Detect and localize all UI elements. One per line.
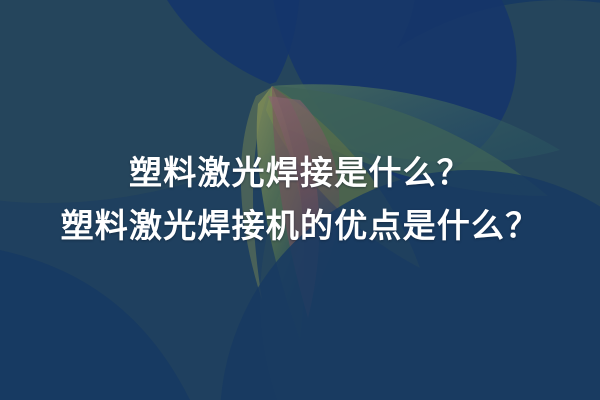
background-artwork bbox=[0, 0, 600, 400]
poster-canvas: 塑料激光焊接是什么？ 塑料激光焊接机的优点是什么？ bbox=[0, 0, 600, 400]
